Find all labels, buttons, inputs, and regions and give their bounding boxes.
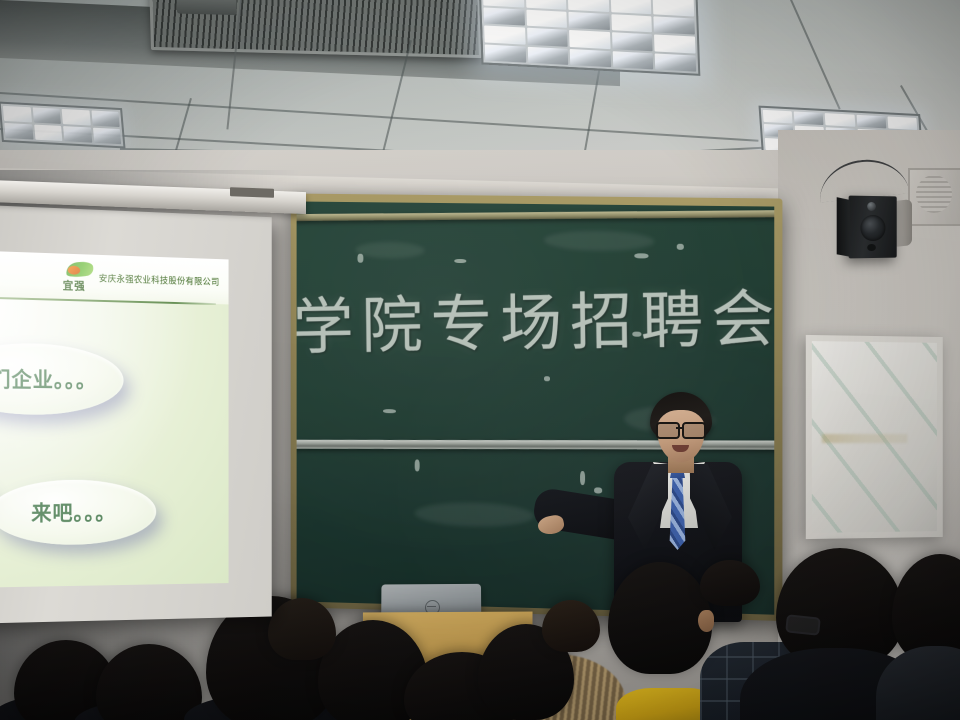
audience-head xyxy=(542,600,600,652)
audience-head xyxy=(268,598,336,660)
audience-head xyxy=(608,562,712,674)
classroom-photo-scene: 学院专场招聘会 ? 宜强 安庆永强农业科技股份有限公司 xyxy=(0,0,960,720)
leaf-logo-icon: 宜强 xyxy=(62,261,94,291)
audience-head xyxy=(96,644,202,720)
slide-bubble-text: 来吧。。。 xyxy=(31,497,116,527)
audience-eyeglasses-icon xyxy=(785,614,821,635)
slide-bubble: 来吧。。。 xyxy=(0,480,156,546)
company-name-text: 安庆永强农业科技股份有限公司 xyxy=(99,271,220,287)
audience-head xyxy=(700,560,760,606)
projector-screen-bracket xyxy=(230,187,274,198)
projection-screen: ? 宜强 安庆永强农业科技股份有限公司 我们企业。。。 来吧。。。 xyxy=(0,204,272,624)
slide-bubble-text: 我们企业。。。 xyxy=(0,363,97,395)
slide-bubble: 我们企业。。。 xyxy=(0,342,124,416)
company-logo: 宜强 安庆永强农业科技股份有限公司 xyxy=(62,261,220,295)
audience-ear xyxy=(698,610,714,632)
presentation-slide: ? 宜强 安庆永强农业科技股份有限公司 我们企业。。。 来吧。。。 xyxy=(0,249,229,589)
logo-seed-shape xyxy=(68,266,80,275)
logo-wordmark-cn: 宜强 xyxy=(63,277,86,293)
